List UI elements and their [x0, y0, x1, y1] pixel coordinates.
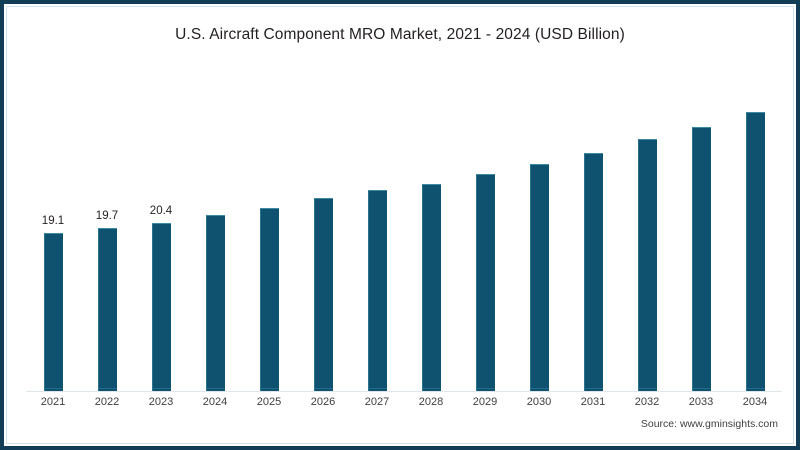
bar-slot: 19.1: [26, 94, 80, 391]
x-tick-2022: 2022: [80, 396, 134, 414]
bar-2033[interactable]: [692, 127, 711, 391]
x-axis-tick-labels: 2021202220232024202520262027202820292030…: [26, 396, 782, 414]
bar-slot: [674, 94, 728, 391]
bar-2029[interactable]: [476, 174, 495, 391]
x-tick-2027: 2027: [350, 396, 404, 414]
x-tick-2029: 2029: [458, 396, 512, 414]
x-tick-2030: 2030: [512, 396, 566, 414]
chart-frame: U.S. Aircraft Component MRO Market, 2021…: [0, 0, 800, 450]
bar-slot: [566, 94, 620, 391]
bar-value-label-2021: 19.1: [42, 215, 64, 227]
bar-slot: [458, 94, 512, 391]
chart-title: U.S. Aircraft Component MRO Market, 2021…: [4, 26, 796, 44]
bar-value-label-2022: 19.7: [96, 210, 118, 222]
x-tick-2033: 2033: [674, 396, 728, 414]
bar-slot: [242, 94, 296, 391]
source-attribution: Source: www.gminsights.com: [641, 418, 778, 430]
bar-2026[interactable]: [314, 198, 333, 391]
bar-2023[interactable]: [152, 223, 171, 391]
x-tick-2031: 2031: [566, 396, 620, 414]
x-tick-2026: 2026: [296, 396, 350, 414]
bar-slot: 19.7: [80, 94, 134, 391]
bar-slot: [188, 94, 242, 391]
bar-slot: [350, 94, 404, 391]
bar-2034[interactable]: [746, 112, 765, 391]
bar-2031[interactable]: [584, 153, 603, 391]
bar-value-label-2023: 20.4: [150, 205, 172, 217]
bar-slot: [728, 94, 782, 391]
bar-slot: [620, 94, 674, 391]
x-tick-2024: 2024: [188, 396, 242, 414]
x-tick-2021: 2021: [26, 396, 80, 414]
x-tick-2032: 2032: [620, 396, 674, 414]
bar-2030[interactable]: [530, 164, 549, 391]
x-tick-2034: 2034: [728, 396, 782, 414]
bar-slot: [404, 94, 458, 391]
bar-2027[interactable]: [368, 190, 387, 391]
bar-series: 19.119.720.4: [26, 94, 782, 391]
bar-slot: [512, 94, 566, 391]
x-tick-2025: 2025: [242, 396, 296, 414]
bar-slot: 20.4: [134, 94, 188, 391]
bar-2028[interactable]: [422, 184, 441, 391]
bar-slot: [296, 94, 350, 391]
x-tick-2028: 2028: [404, 396, 458, 414]
bar-2024[interactable]: [206, 215, 225, 391]
x-axis-line: [26, 391, 782, 392]
bar-2021[interactable]: [44, 233, 63, 391]
x-tick-2023: 2023: [134, 396, 188, 414]
bar-2022[interactable]: [98, 228, 117, 391]
bar-2032[interactable]: [638, 139, 657, 391]
bar-2025[interactable]: [260, 208, 279, 391]
plot-area: 19.119.720.4: [26, 94, 782, 392]
